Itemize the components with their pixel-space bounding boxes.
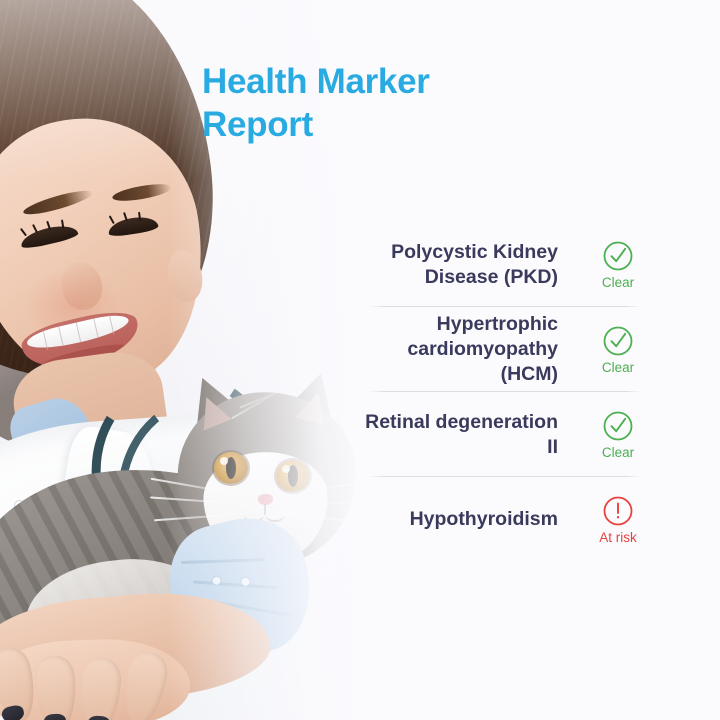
check-circle-icon (602, 410, 634, 442)
status-label: Clear (602, 446, 634, 460)
marker-row: Retinal degeneration IIClear (330, 392, 660, 477)
marker-label: Retinal degeneration II (358, 410, 576, 460)
health-marker-report-page: Health Marker Report Polycystic Kidney D… (0, 0, 720, 720)
marker-row: Polycystic Kidney Disease (PKD)Clear (330, 222, 660, 307)
page-title: Health Marker Report (202, 60, 532, 147)
exclamation-circle-icon (602, 495, 634, 527)
marker-label: Hypertrophic cardiomyopathy (HCM) (358, 312, 576, 387)
check-circle-icon (602, 325, 634, 357)
status-badge: Clear (576, 240, 660, 290)
status-badge: Clear (576, 410, 660, 460)
health-marker-list: Polycystic Kidney Disease (PKD)ClearHype… (330, 222, 660, 562)
status-label: Clear (602, 276, 634, 290)
status-badge: Clear (576, 325, 660, 375)
status-label: Clear (602, 361, 634, 375)
status-label: At risk (599, 531, 637, 545)
cat-eye-left (214, 452, 248, 484)
cat-eye-right (276, 460, 310, 492)
cat-mouth-right (265, 508, 285, 522)
marker-label: Polycystic Kidney Disease (PKD) (358, 240, 576, 290)
marker-row: Hypertrophic cardiomyopathy (HCM)Clear (330, 307, 660, 392)
status-badge: At risk (576, 495, 660, 545)
marker-row: HypothyroidismAt risk (330, 477, 660, 562)
page-title-line-1: Health Marker (202, 60, 532, 103)
check-circle-icon (602, 240, 634, 272)
page-title-line-2: Report (202, 103, 532, 146)
marker-label: Hypothyroidism (358, 507, 576, 532)
